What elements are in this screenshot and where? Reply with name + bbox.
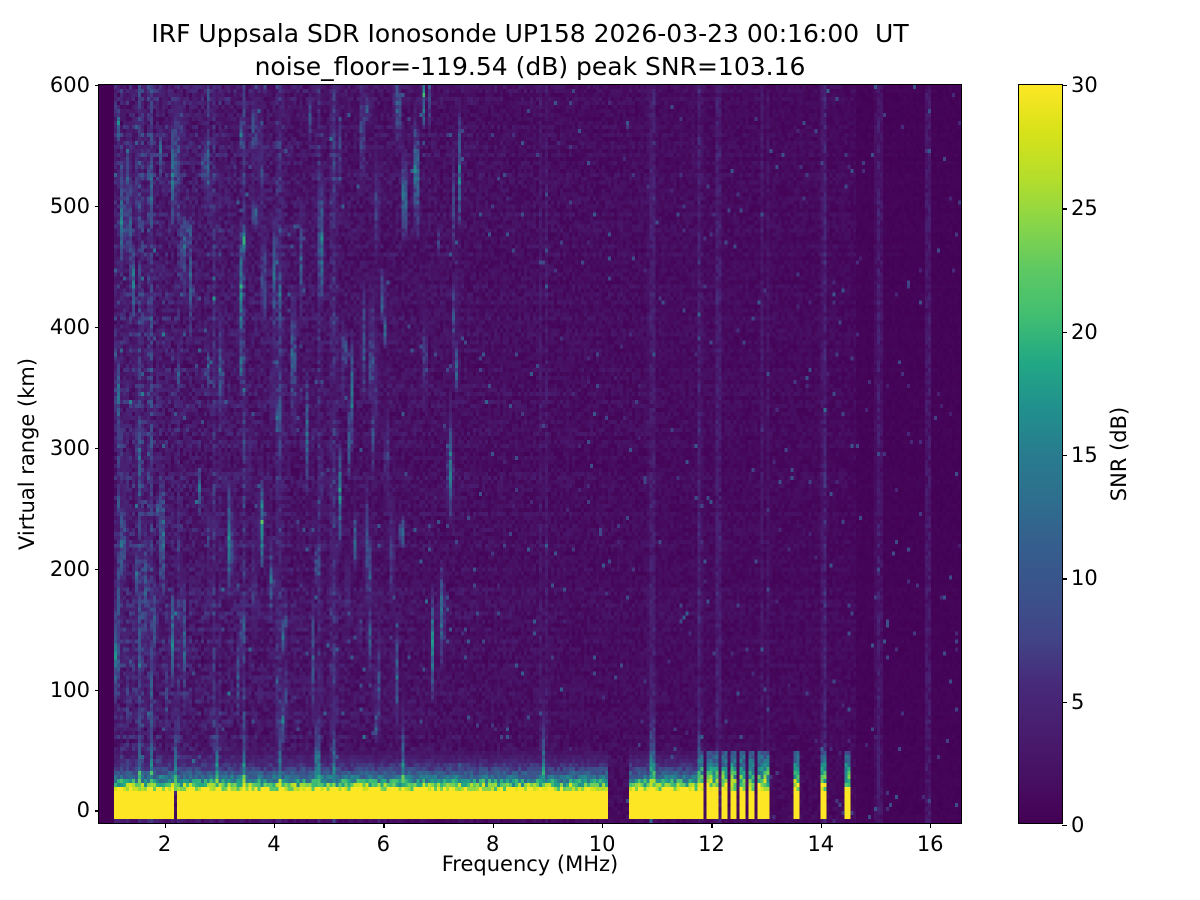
colorbar-tick-label: 20 xyxy=(1071,320,1098,344)
colorbar-tick-mark xyxy=(1062,85,1067,86)
x-tick-mark xyxy=(821,823,822,828)
title-line-secondary: noise_floor=-119.54 (dB) peak SNR=103.16 xyxy=(0,50,1060,83)
colorbar-tick-label: 25 xyxy=(1071,196,1098,220)
colorbar-tick-mark xyxy=(1062,702,1067,703)
y-tick-mark xyxy=(95,448,100,449)
y-tick-label: 300 xyxy=(50,436,90,460)
colorbar-tick-mark xyxy=(1062,825,1067,826)
colorbar-tick-label: 10 xyxy=(1071,566,1098,590)
colorbar-title: SNR (dB) xyxy=(1106,84,1132,824)
ionogram-heatmap xyxy=(99,85,961,823)
y-tick-mark xyxy=(95,569,100,570)
y-tick-mark xyxy=(95,85,100,86)
colorbar-tick-mark xyxy=(1062,578,1067,579)
y-tick-label: 100 xyxy=(50,678,90,702)
y-tick-label: 500 xyxy=(50,194,90,218)
y-tick-label: 0 xyxy=(77,798,90,822)
colorbar-tick-mark xyxy=(1062,332,1067,333)
x-tick-mark xyxy=(383,823,384,828)
x-tick-mark xyxy=(602,823,603,828)
y-tick-label: 200 xyxy=(50,557,90,581)
plot-axes: 0100200300400500600 246810121416 xyxy=(98,84,962,824)
y-tick-mark xyxy=(95,206,100,207)
x-tick-mark xyxy=(274,823,275,828)
y-tick-mark xyxy=(95,327,100,328)
y-axis-title: Virtual range (km) xyxy=(14,84,40,824)
x-axis-title: Frequency (MHz) xyxy=(98,852,962,876)
x-tick-mark xyxy=(493,823,494,828)
title-line-primary: IRF Uppsala SDR Ionosonde UP158 2026-03-… xyxy=(0,17,1060,50)
colorbar-tick-label: 5 xyxy=(1071,690,1084,714)
y-tick-label: 400 xyxy=(50,315,90,339)
y-tick-label: 600 xyxy=(50,73,90,97)
colorbar-tick-label: 15 xyxy=(1071,443,1098,467)
colorbar: 051015202530 xyxy=(1018,84,1063,824)
colorbar-title-text: SNR (dB) xyxy=(1107,407,1131,501)
colorbar-tick-label: 0 xyxy=(1071,813,1084,837)
x-tick-mark xyxy=(165,823,166,828)
y-axis-title-text: Virtual range (km) xyxy=(15,358,39,550)
y-tick-mark xyxy=(95,810,100,811)
ionogram-figure: IRF Uppsala SDR Ionosonde UP158 2026-03-… xyxy=(0,0,1200,900)
colorbar-tick-label: 30 xyxy=(1071,73,1098,97)
x-tick-mark xyxy=(711,823,712,828)
y-tick-mark xyxy=(95,690,100,691)
figure-title: IRF Uppsala SDR Ionosonde UP158 2026-03-… xyxy=(0,17,1060,83)
x-tick-mark xyxy=(930,823,931,828)
colorbar-tick-mark xyxy=(1062,208,1067,209)
colorbar-tick-mark xyxy=(1062,455,1067,456)
colorbar-gradient xyxy=(1019,85,1062,823)
